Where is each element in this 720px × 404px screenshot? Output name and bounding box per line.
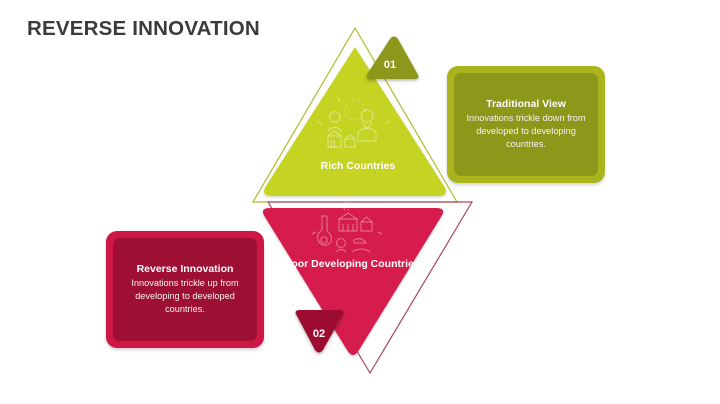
callout-traditional-body: Innovations trickle down from developed … (464, 112, 588, 151)
callout-traditional-title: Traditional View (486, 98, 566, 111)
rich-countries-triangle[interactable] (264, 47, 446, 196)
slide-canvas: REVERSE INNOVATION (0, 0, 720, 404)
callout-reverse-title: Reverse Innovation (137, 263, 234, 276)
callout-reverse-inner: Reverse Innovation Innovations trickle u… (113, 238, 257, 341)
callout-traditional-inner: Traditional View Innovations trickle dow… (454, 73, 598, 176)
callout-reverse-innovation[interactable]: Reverse Innovation Innovations trickle u… (106, 231, 264, 348)
callout-traditional-view[interactable]: Traditional View Innovations trickle dow… (447, 66, 605, 183)
badge-01[interactable] (367, 37, 419, 80)
callout-reverse-body: Innovations trickle up from developing t… (123, 277, 247, 316)
